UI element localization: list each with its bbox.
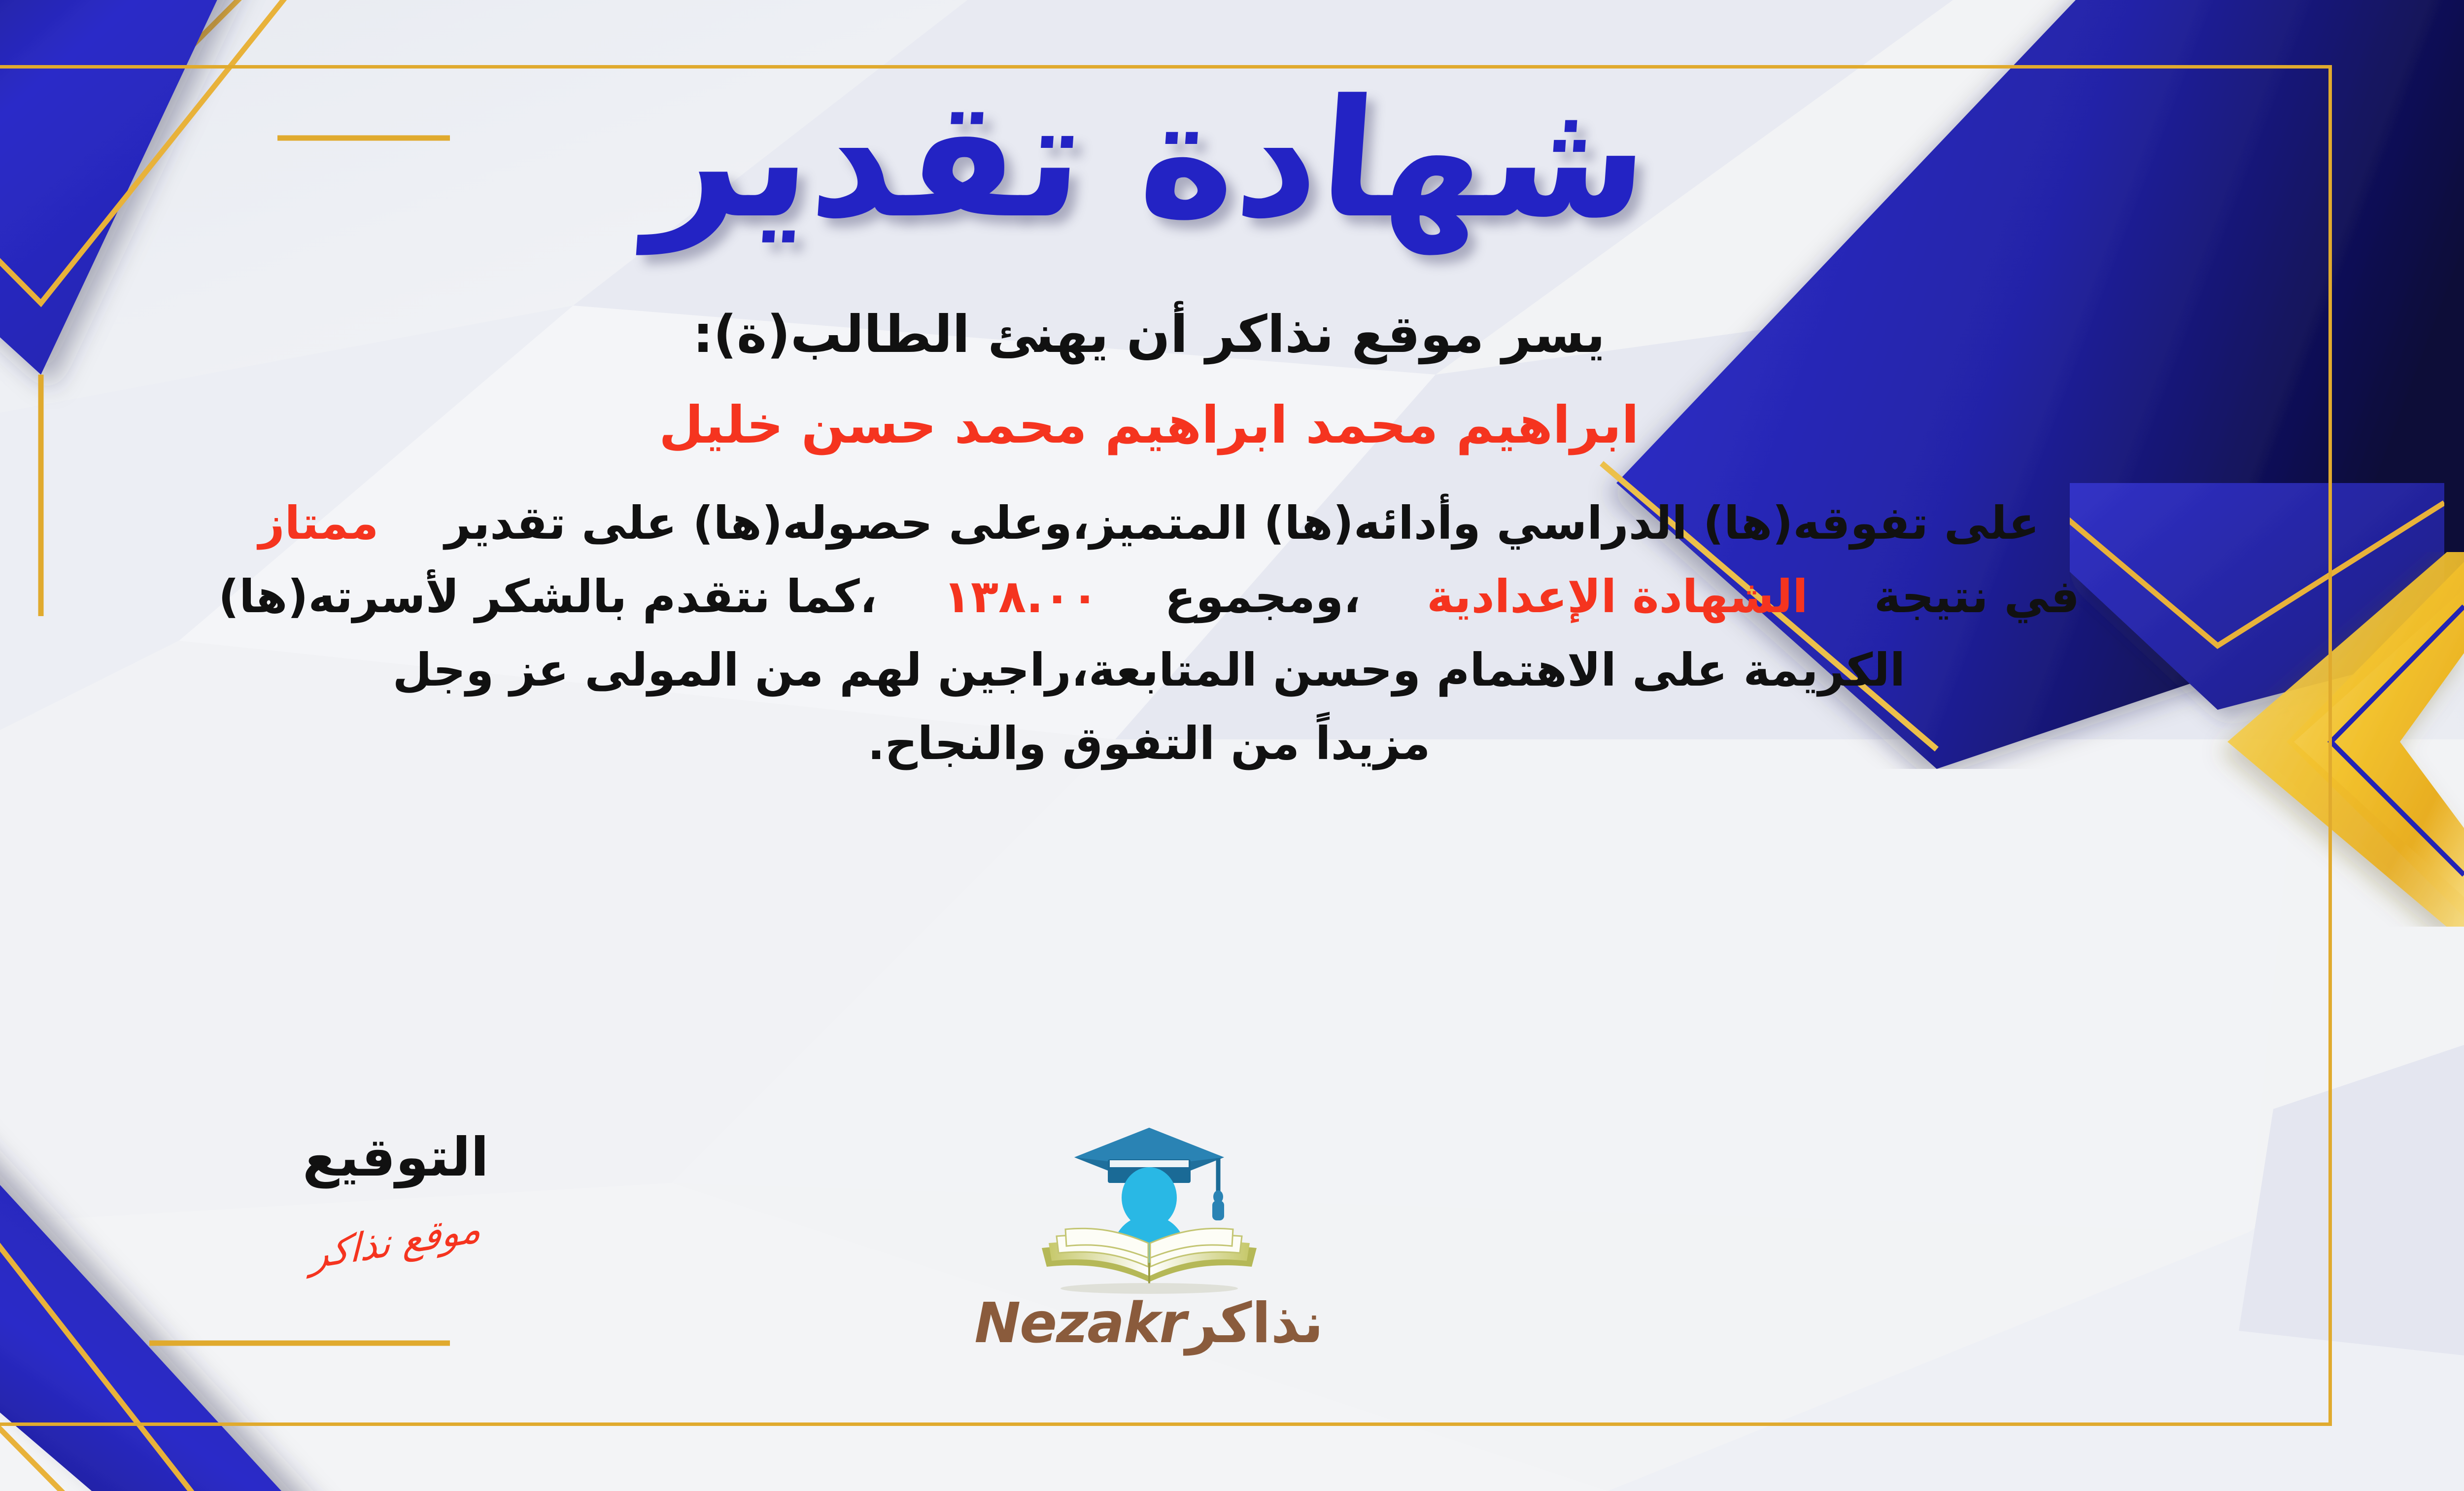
- signature-area: التوقيع موقع نذاكر: [223, 1129, 568, 1264]
- body-line-2-prefix: في نتيجة: [1874, 570, 2080, 623]
- body-line-2-suffix: ،كما نتقدم بالشكر لأسرته(ها): [218, 570, 877, 623]
- certificate-body: على تفوقه(ها) الدراسي وأدائه(ها) المتميز…: [26, 486, 2273, 780]
- brand-wordmark: Nezakrنذاكر: [923, 1291, 1376, 1355]
- total-score: ١٣٨.٠٠: [943, 570, 1099, 623]
- greeting-line: يسر موقع نذاكر أن يهنئ الطالب(ة):: [693, 304, 1605, 364]
- body-line-3: الكريمة على الاهتمام وحسن المتابعة،راجين…: [26, 633, 2273, 707]
- certificate-footer: التوقيع موقع نذاكر: [0, 1129, 2464, 1434]
- graduate-book-logo-icon: [1011, 1119, 1287, 1296]
- body-line-2-mid: ،ومجموع: [1164, 570, 1361, 623]
- signature-mark: موقع نذاكر: [310, 1206, 481, 1278]
- certificate-page: شهادة تقدير يسر موقع نذاكر أن يهنئ الطال…: [0, 0, 2464, 1491]
- body-line-1: على تفوقه(ها) الدراسي وأدائه(ها) المتميز…: [26, 486, 2273, 560]
- certificate-title: شهادة تقدير: [644, 74, 1654, 245]
- grade-value: ممتاز: [259, 497, 379, 550]
- body-line-2: في نتيجة الشهادة الإعدادية ،ومجموع ١٣٨.٠…: [26, 560, 2273, 633]
- exam-name: الشهادة الإعدادية: [1427, 570, 1808, 623]
- student-name: ابراهيم محمد ابراهيم محمد حسن خليل: [659, 395, 1639, 455]
- body-line-1-text: على تفوقه(ها) الدراسي وأدائه(ها) المتميز…: [445, 497, 2039, 550]
- brand-arabic: نذاكر: [1186, 1291, 1324, 1355]
- brand-latin: Nezakr: [974, 1291, 1185, 1355]
- body-line-4: مزيداً من التفوق والنجاح.: [26, 707, 2273, 780]
- brand-logo: Nezakrنذاكر: [923, 1119, 1376, 1355]
- signature-label: التوقيع: [223, 1129, 568, 1187]
